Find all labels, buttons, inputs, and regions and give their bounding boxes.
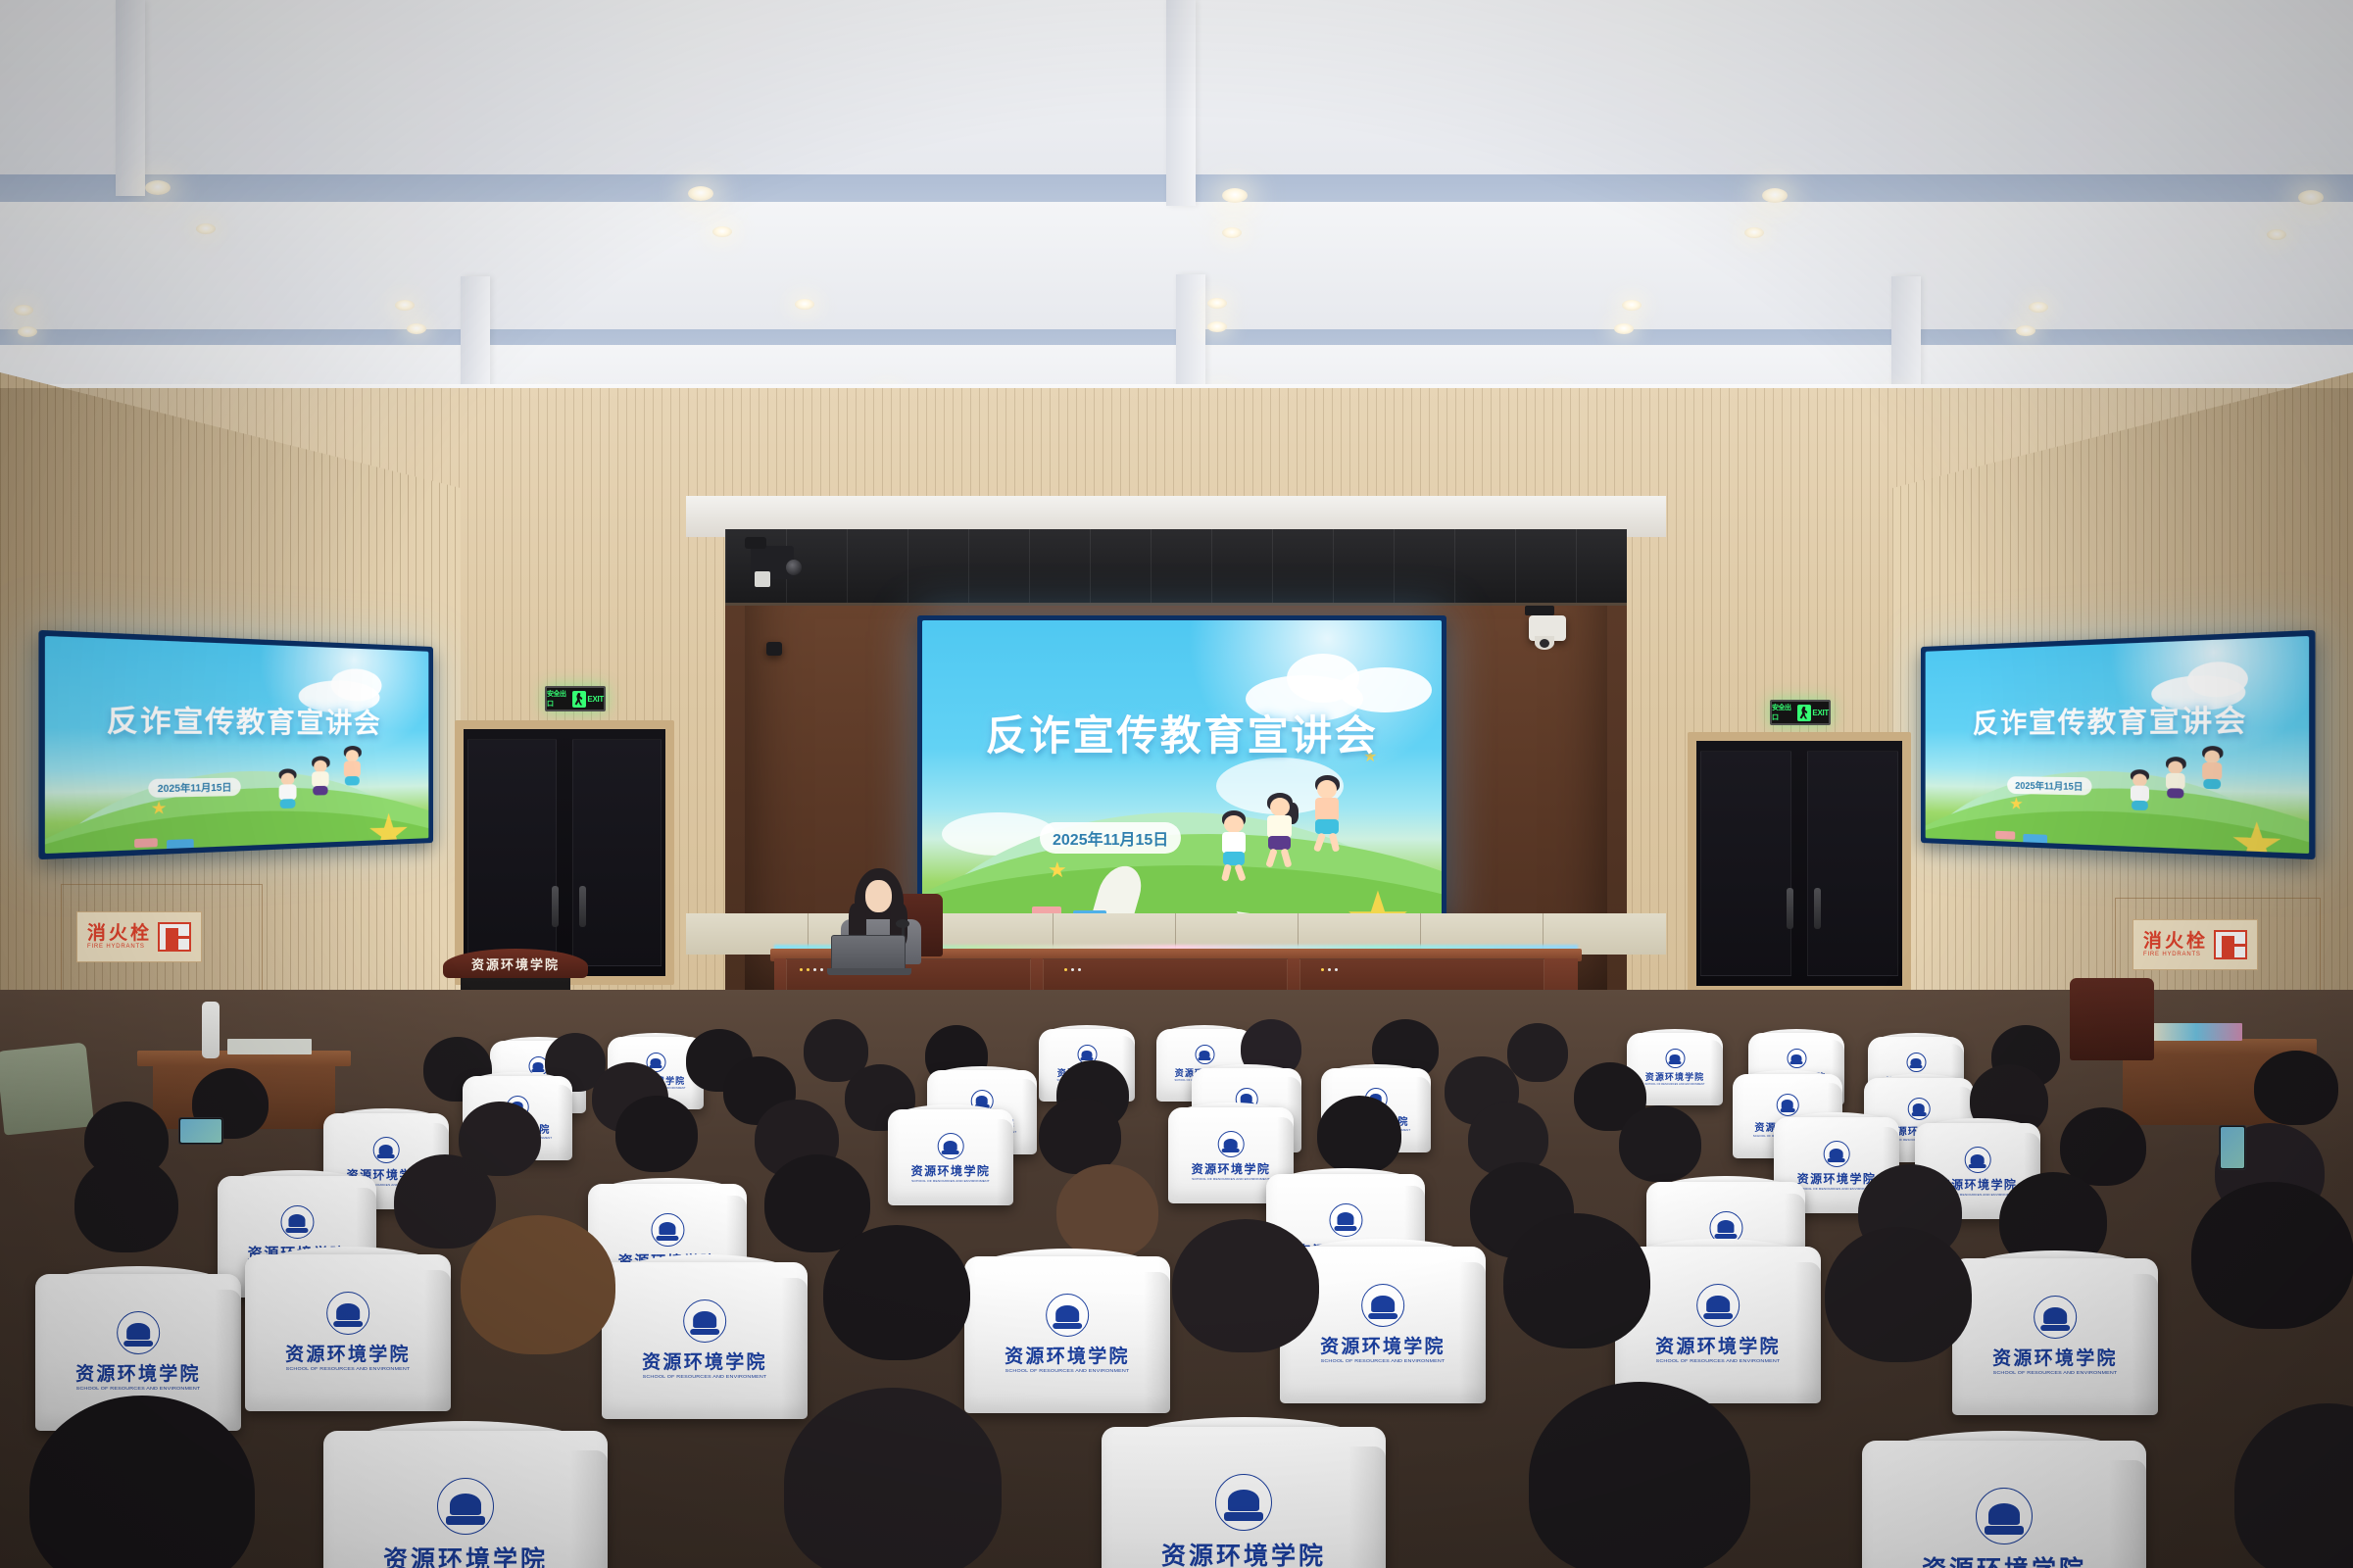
desk-indicator-led <box>820 968 823 971</box>
seat-label-cn: 资源环境学院 <box>642 1347 767 1374</box>
left-wall-display: ★ ★ 反诈宣传教育宣讲会 2025 <box>38 630 433 859</box>
audience-head <box>74 1156 178 1252</box>
door-handle[interactable] <box>552 886 559 927</box>
camera-icon <box>1529 615 1566 641</box>
seat-label-en: SCHOOL OF RESOURCES AND ENVIRONMENT <box>1192 1177 1270 1181</box>
audience-head <box>2191 1182 2353 1329</box>
water-bottle <box>202 1002 220 1058</box>
seat-label-en: SCHOOL OF RESOURCES AND ENVIRONMENT <box>1993 1370 2118 1375</box>
right-screen-date: 2025年11月15日 <box>2007 776 2091 795</box>
star-graphic: ★ <box>2229 814 2284 854</box>
seat-label-cn: 资源环境学院 <box>75 1359 201 1386</box>
school-crest-icon <box>1217 1131 1244 1157</box>
book-graphic <box>167 839 194 851</box>
downlight-icon <box>1614 323 1634 334</box>
book-graphic <box>2023 834 2047 845</box>
school-crest-icon <box>1908 1098 1931 1120</box>
school-crest-icon <box>651 1213 684 1247</box>
audience-head <box>1039 1098 1121 1174</box>
laptop-icon <box>831 935 906 970</box>
desk-indicator-led <box>807 968 809 971</box>
door-leaf[interactable] <box>1807 751 1897 976</box>
school-crest-icon <box>437 1478 494 1535</box>
school-crest-icon <box>1215 1474 1272 1531</box>
exit-sign-label-cn: 安全出口 <box>547 689 571 709</box>
school-crest-icon <box>1665 1049 1685 1068</box>
fire-hydrant-sign-left: 消火栓 FIRE HYDRANTS <box>76 911 202 962</box>
seat: 资源环境学院SCHOOL OF RESOURCES AND ENVIRONMEN… <box>245 1254 451 1411</box>
downlight-icon <box>1207 298 1227 309</box>
downlight-icon <box>1762 188 1788 203</box>
downlight-icon <box>407 323 426 334</box>
door-handle[interactable] <box>579 886 586 927</box>
school-crest-icon <box>1046 1294 1089 1337</box>
school-crest-icon <box>1361 1284 1404 1327</box>
star-graphic: ★ <box>1048 859 1067 881</box>
exit-sign-label-en: EXIT <box>1812 709 1829 717</box>
school-crest-icon <box>1823 1141 1849 1167</box>
downlight-icon <box>795 299 814 310</box>
seat-label-cn: 资源环境学院 <box>911 1162 991 1179</box>
door-left[interactable] <box>455 720 674 985</box>
door-leaf[interactable] <box>467 739 557 966</box>
seat-label-cn: 资源环境学院 <box>1922 1550 2086 1568</box>
book-graphic <box>134 838 158 848</box>
desk-indicator-led <box>800 968 803 971</box>
seat-label-cn: 资源环境学院 <box>1645 1070 1704 1083</box>
ceiling-rib <box>461 276 490 392</box>
downlight-icon <box>2298 190 2324 205</box>
school-crest-icon <box>280 1205 314 1239</box>
kid-graphic <box>307 756 339 809</box>
book-graphic <box>1995 831 2015 840</box>
seat-label-cn: 资源环境学院 <box>1161 1537 1326 1568</box>
presenter <box>833 868 951 966</box>
right-screen-title: 反诈宣传教育宣讲会 <box>1926 696 2309 741</box>
fire-hydrant-sign-right: 消火栓 FIRE HYDRANTS <box>2132 919 2258 970</box>
audience-head <box>1056 1164 1158 1258</box>
cloud-graphic <box>331 668 382 702</box>
star-graphic: ★ <box>151 801 168 818</box>
kid-graphic <box>2196 746 2233 806</box>
stage-valance <box>725 529 1627 606</box>
seat-label-en: SCHOOL OF RESOURCES AND ENVIRONMENT <box>1321 1358 1446 1363</box>
downlight-icon <box>1207 321 1227 332</box>
seat-label-cn: 资源环境学院 <box>285 1340 411 1366</box>
lecture-hall-photo: ★ ★ ★ ★ <box>0 0 2353 1568</box>
lectern-name-plate: 资源环境学院 <box>443 949 588 978</box>
kid-graphic <box>339 746 370 801</box>
school-crest-icon <box>1777 1094 1799 1116</box>
hydrant-pictogram-icon <box>2214 930 2247 959</box>
school-crest-icon <box>1906 1053 1926 1072</box>
downlight-icon <box>2029 302 2048 313</box>
downlight-icon <box>1222 188 1248 203</box>
school-crest-icon <box>372 1137 399 1163</box>
downlight-icon <box>1222 227 1242 238</box>
audience-head <box>394 1154 496 1249</box>
school-crest-icon <box>1787 1049 1806 1068</box>
kid-graphic <box>2125 769 2158 821</box>
running-man-icon <box>1797 705 1811 721</box>
desk-indicator-led <box>1064 968 1067 971</box>
school-crest-icon <box>1976 1488 2033 1544</box>
downlight-icon <box>14 305 33 316</box>
school-crest-icon <box>1964 1147 1990 1173</box>
seat-label-cn: 资源环境学院 <box>1192 1160 1271 1177</box>
bag <box>0 1042 94 1135</box>
seat-label-en: SCHOOL OF RESOURCES AND ENVIRONMENT <box>643 1374 767 1379</box>
desk-indicator-led <box>1321 968 1324 971</box>
downlight-icon <box>196 223 216 234</box>
door-handle[interactable] <box>1787 888 1793 929</box>
presenter-face <box>865 880 892 912</box>
hydrant-label-en: FIRE HYDRANTS <box>87 944 152 950</box>
camera-icon <box>766 642 782 656</box>
main-screen-content: ★ ★ ★ ★ <box>922 620 1442 924</box>
ceiling <box>0 0 2353 421</box>
school-crest-icon <box>1195 1045 1214 1064</box>
kid-graphic <box>2160 757 2196 813</box>
downlight-icon <box>145 180 171 195</box>
seat: 资源环境学院SCHOOL OF RESOURCES AND ENVIRONMEN… <box>1952 1258 2158 1415</box>
audience-head <box>2254 1051 2338 1125</box>
audience-head <box>784 1388 1002 1568</box>
seat-label-en: SCHOOL OF RESOURCES AND ENVIRONMENT <box>1656 1358 1781 1363</box>
table-brochure <box>2150 1023 2242 1041</box>
seat-label-cn: 资源环境学院 <box>1005 1342 1130 1368</box>
door-handle[interactable] <box>1814 888 1821 929</box>
hydrant-label-en: FIRE HYDRANTS <box>2143 952 2208 957</box>
lectern-name-plate-label: 资源环境学院 <box>471 955 560 973</box>
seat-label-cn: 资源环境学院 <box>1992 1344 2118 1370</box>
door-leaf[interactable] <box>1700 751 1790 976</box>
school-crest-icon <box>326 1292 369 1335</box>
seat: 资源环境学院SCHOOL OF RESOURCES AND ENVIRONMEN… <box>323 1431 608 1568</box>
valance-grid <box>725 529 1627 603</box>
seat-label-en: SCHOOL OF RESOURCES AND ENVIRONMENT <box>286 1366 411 1371</box>
hydrant-label-cn: 消火栓 <box>2143 932 2208 952</box>
seat-label-cn: 资源环境学院 <box>1320 1332 1446 1358</box>
audience-head <box>461 1215 615 1354</box>
audience-head <box>823 1225 970 1360</box>
running-man-icon <box>572 691 586 708</box>
school-crest-icon <box>683 1299 726 1343</box>
laptop-icon <box>827 968 911 975</box>
seat-label-en: SCHOOL OF RESOURCES AND ENVIRONMENT <box>1005 1368 1130 1373</box>
audience-head <box>615 1096 698 1172</box>
main-led-wall: ★ ★ ★ ★ <box>917 615 1446 929</box>
star-graphic: ★ <box>2009 797 2024 813</box>
exit-sign-right: 安全出口 EXIT <box>1770 700 1831 725</box>
kid-graphic <box>1306 775 1351 854</box>
seat: 资源环境学院SCHOOL OF RESOURCES AND ENVIRONMEN… <box>1102 1427 1386 1568</box>
downlight-icon <box>18 326 37 337</box>
seat-label-cn: 资源环境学院 <box>383 1541 548 1568</box>
left-screen-content: ★ ★ 反诈宣传教育宣讲会 2025 <box>45 636 428 854</box>
school-crest-icon <box>117 1311 160 1354</box>
desk-indicator-led <box>813 968 816 971</box>
seat: 资源环境学院SCHOOL OF RESOURCES AND ENVIRONMEN… <box>1862 1441 2146 1568</box>
downlight-icon <box>2267 229 2286 240</box>
audience-head <box>2060 1107 2146 1186</box>
desk-indicator-led <box>1335 968 1338 971</box>
audience-head <box>1619 1105 1701 1182</box>
right-screen-content: ★ ★ 反诈宣传教育宣讲会 2025 <box>1926 636 2309 854</box>
side-chair-right <box>2070 978 2154 1060</box>
school-crest-icon <box>1696 1284 1740 1327</box>
kid-graphic <box>273 768 305 819</box>
seat: 资源环境学院SCHOOL OF RESOURCES AND ENVIRONMEN… <box>964 1256 1170 1413</box>
hydrant-label-cn: 消火栓 <box>87 924 152 944</box>
kid-graphic <box>1214 810 1257 883</box>
downlight-icon <box>688 186 713 201</box>
desk-indicator-led <box>1071 968 1074 971</box>
microphone-icon <box>896 919 909 928</box>
school-crest-icon <box>1329 1203 1362 1237</box>
audience-head <box>1503 1213 1650 1348</box>
exit-sign-label-en: EXIT <box>587 695 604 704</box>
downlight-icon <box>395 300 415 311</box>
seat-label-cn: 资源环境学院 <box>1655 1332 1781 1358</box>
main-screen-date: 2025年11月15日 <box>1040 822 1181 854</box>
audience-head <box>1529 1382 1750 1568</box>
table-documents <box>227 1039 312 1054</box>
seat: 资源环境学院SCHOOL OF RESOURCES AND ENVIRONMEN… <box>888 1109 1013 1205</box>
seat: 资源环境学院SCHOOL OF RESOURCES AND ENVIRONMEN… <box>602 1262 808 1419</box>
right-wall-display: ★ ★ 反诈宣传教育宣讲会 2025 <box>1921 630 2316 859</box>
audience-head <box>1172 1219 1319 1352</box>
downlight-icon <box>2016 325 2035 336</box>
left-screen-date: 2025年11月15日 <box>148 778 240 798</box>
exit-sign-left: 安全出口 EXIT <box>545 686 606 711</box>
smartphone[interactable] <box>178 1117 223 1145</box>
school-crest-icon <box>2034 1296 2077 1339</box>
desk-indicator-led <box>1328 968 1331 971</box>
downlight-icon <box>712 226 732 237</box>
main-screen-title: 反诈宣传教育宣讲会 <box>922 703 1442 762</box>
ceiling-rib <box>1891 276 1921 392</box>
desk-indicator-led <box>1078 968 1081 971</box>
audience-head <box>1507 1023 1568 1082</box>
projector-icon <box>751 546 794 579</box>
seat-label-en: SCHOOL OF RESOURCES AND ENVIRONMENT <box>911 1179 990 1183</box>
ceiling-rib <box>1176 274 1205 392</box>
downlight-icon <box>1744 227 1764 238</box>
door-leaf[interactable] <box>572 739 662 966</box>
kid-graphic <box>1259 793 1304 869</box>
seat-label-cn: 资源环境学院 <box>1797 1170 1877 1187</box>
audience-head <box>1825 1227 1972 1362</box>
smartphone[interactable] <box>2219 1125 2246 1170</box>
school-crest-icon <box>937 1133 963 1159</box>
ceiling-rib <box>1166 0 1196 206</box>
seat-label-en: SCHOOL OF RESOURCES AND ENVIRONMENT <box>1645 1083 1705 1086</box>
downlight-icon <box>1622 300 1642 311</box>
audience-head <box>1317 1096 1401 1174</box>
door-right[interactable] <box>1688 732 1911 995</box>
ceiling-rib <box>116 0 145 196</box>
seat-label-en: SCHOOL OF RESOURCES AND ENVIRONMENT <box>76 1386 201 1391</box>
exit-sign-label-cn: 安全出口 <box>1772 703 1796 722</box>
hydrant-pictogram-icon <box>158 922 191 952</box>
left-screen-title: 反诈宣传教育宣讲会 <box>45 696 428 741</box>
